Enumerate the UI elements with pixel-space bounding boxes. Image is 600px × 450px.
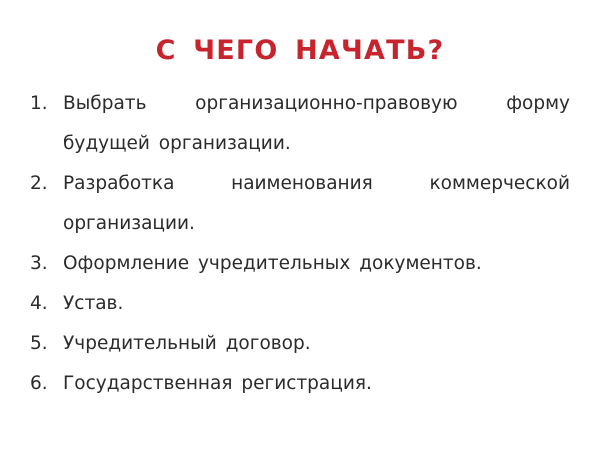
list-item: 2. Разработка наименования коммерческой … — [30, 164, 570, 244]
list-item-number: 2. — [30, 164, 63, 204]
list-item-number: 3. — [30, 244, 63, 284]
list-item-number: 5. — [30, 324, 63, 364]
list-item-label: Выбрать организационно-правовую форму бу… — [63, 84, 570, 164]
steps-list: 1. Выбрать организационно-правовую форму… — [30, 84, 570, 404]
page-title: С ЧЕГО НАЧАТЬ? — [0, 36, 600, 66]
list-item: 3. Оформление учредительных документов. — [30, 244, 570, 284]
slide-canvas: С ЧЕГО НАЧАТЬ? 1. Выбрать организационно… — [0, 0, 600, 450]
list-item-number: 4. — [30, 284, 63, 324]
list-item-number: 6. — [30, 364, 63, 404]
list-item-label: Разработка наименования коммерческой орг… — [63, 164, 570, 244]
list-item-number: 1. — [30, 84, 63, 124]
list-item: 6. Государственная регистрация. — [30, 364, 570, 404]
list-item: 1. Выбрать организационно-правовую форму… — [30, 84, 570, 164]
list-item: 5. Учредительный договор. — [30, 324, 570, 364]
list-item-label: Оформление учредительных документов. — [63, 244, 570, 284]
list-item-label: Учредительный договор. — [63, 324, 570, 364]
list-item: 4. Устав. — [30, 284, 570, 324]
list-item-label: Устав. — [63, 284, 570, 324]
list-item-label: Государственная регистрация. — [63, 364, 570, 404]
